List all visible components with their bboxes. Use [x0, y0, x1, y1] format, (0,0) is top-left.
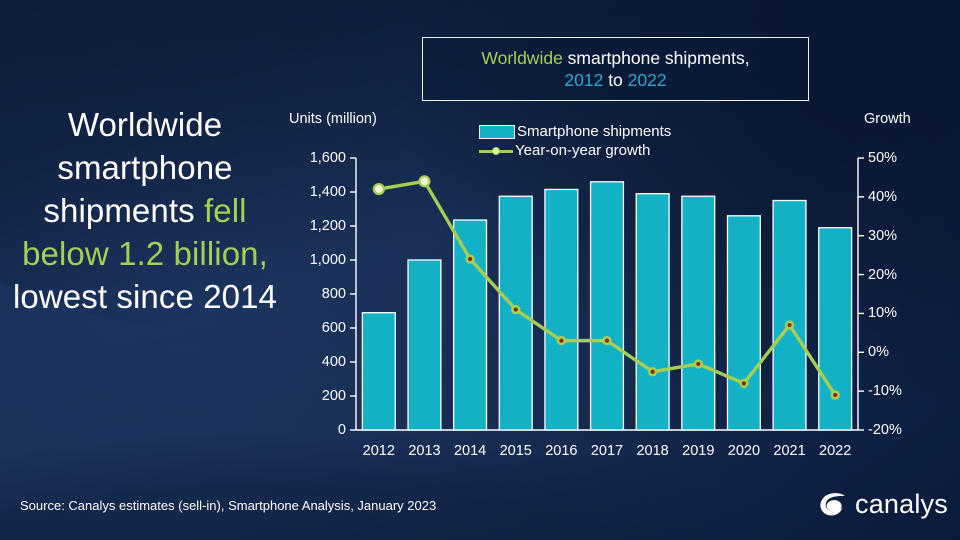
bar-2013	[408, 260, 441, 430]
line-marker-2022	[832, 392, 839, 399]
x-axis-label-2018: 2018	[636, 443, 668, 459]
plot-graphics	[0, 0, 960, 540]
line-marker-2019	[695, 361, 702, 368]
legend-line-swatch-icon	[479, 145, 513, 157]
chart: Units (million) Growth 1,6001,4001,2001,…	[0, 0, 960, 540]
line-marker-2021	[786, 322, 793, 329]
bar-2012	[362, 313, 395, 430]
bar-2014	[454, 220, 487, 430]
source-note: Source: Canalys estimates (sell-in), Sma…	[20, 498, 436, 513]
x-axis-label-2012: 2012	[363, 443, 395, 459]
canalys-wordmark: canalys	[855, 491, 948, 518]
bar-2021	[773, 201, 806, 431]
bar-2017	[591, 182, 624, 430]
legend-label-shipments: Smartphone shipments	[517, 123, 671, 140]
canalys-swoosh-icon	[818, 489, 848, 519]
x-axis-label-2022: 2022	[819, 443, 851, 459]
x-axis-label-2016: 2016	[545, 443, 577, 459]
line-marker-2012	[374, 184, 384, 194]
x-axis-label-2014: 2014	[454, 443, 486, 459]
legend-item-growth[interactable]: Year-on-year growth	[479, 141, 671, 160]
line-marker-2014	[467, 256, 474, 263]
line-marker-2015	[512, 306, 519, 313]
chart-legend: Smartphone shipments Year-on-year growth	[479, 122, 671, 160]
x-axis-label-2021: 2021	[773, 443, 805, 459]
legend-item-shipments[interactable]: Smartphone shipments	[479, 122, 671, 141]
canalys-logo: canalys	[818, 489, 948, 519]
line-marker-2017	[604, 337, 611, 344]
x-axis-label-2019: 2019	[682, 443, 714, 459]
legend-label-growth: Year-on-year growth	[515, 142, 650, 159]
line-marker-2016	[558, 337, 565, 344]
x-axis-label-2015: 2015	[500, 443, 532, 459]
legend-bar-swatch-icon	[479, 125, 515, 139]
bar-2018	[636, 194, 669, 430]
bar-2020	[727, 216, 760, 430]
bar-2019	[682, 196, 715, 430]
line-marker-2018	[649, 368, 656, 375]
bar-series	[362, 182, 851, 430]
line-marker-2013	[419, 176, 429, 186]
x-axis-label-2017: 2017	[591, 443, 623, 459]
bar-2016	[545, 189, 578, 430]
slide-canvas: Worldwide smartphone shipments fell belo…	[0, 0, 960, 540]
x-axis-label-2020: 2020	[728, 443, 760, 459]
x-axis-label-2013: 2013	[408, 443, 440, 459]
line-marker-2020	[741, 380, 748, 387]
